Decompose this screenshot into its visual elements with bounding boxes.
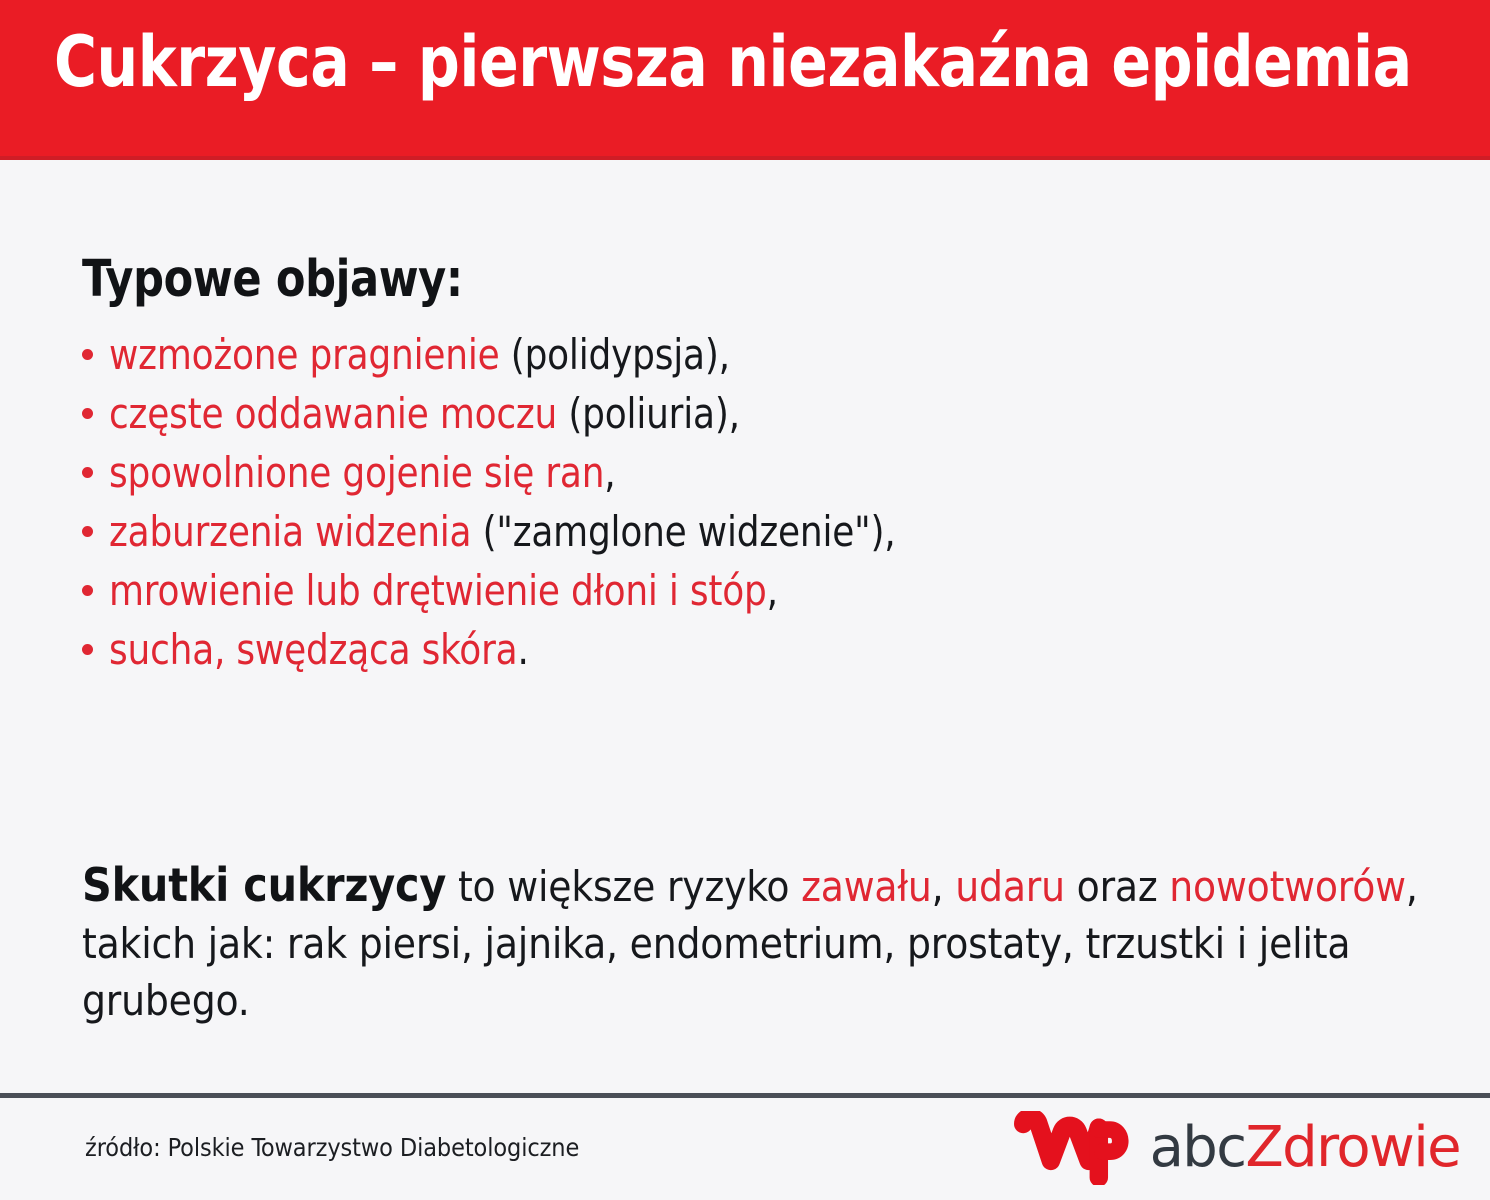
- header-banner: Cukrzyca – pierwsza niezakaźna epidemia: [0, 0, 1490, 160]
- effects-highlight-zawalu: zawału: [801, 862, 932, 911]
- footer-divider: [0, 1093, 1490, 1098]
- symptom-rest: ,: [767, 566, 778, 615]
- bullet-dot-icon: [82, 349, 93, 360]
- symptom-highlight: częste oddawanie moczu: [109, 389, 557, 438]
- effects-highlight-nowotworow: nowotworów: [1169, 862, 1406, 911]
- infographic-poster: Cukrzyca – pierwsza niezakaźna epidemia …: [0, 0, 1490, 1200]
- brand-zdrowie: Zdrowie: [1245, 1115, 1460, 1180]
- list-item: mrowienie lub drętwienie dłoni i stóp,: [82, 561, 1412, 620]
- main-content: Typowe objawy: wzmożone pragnienie (poli…: [0, 160, 1490, 1093]
- wp-logo-icon: [1014, 1111, 1132, 1185]
- symptom-rest: .: [517, 625, 528, 674]
- symptom-highlight: sucha, swędząca skóra: [109, 625, 517, 674]
- symptoms-list: wzmożone pragnienie (polidypsja), częste…: [82, 325, 1412, 679]
- effects-part1: to większe ryzyko: [446, 862, 801, 911]
- effects-lead: Skutki cukrzycy: [82, 858, 446, 912]
- effects-part2: ,: [932, 862, 956, 911]
- bullet-dot-icon: [82, 585, 93, 596]
- footer: źródło: Polskie Towarzystwo Diabetologic…: [0, 1093, 1490, 1200]
- list-item: sucha, swędząca skóra.: [82, 620, 1412, 679]
- effects-highlight-udaru: udaru: [955, 862, 1065, 911]
- bullet-dot-icon: [82, 467, 93, 478]
- effects-part3: oraz: [1065, 862, 1169, 911]
- symptom-rest: (poliuria),: [557, 389, 740, 438]
- source-attribution: źródło: Polskie Towarzystwo Diabetologic…: [85, 1133, 579, 1162]
- symptom-highlight: spowolnione gojenie się ran: [109, 448, 604, 497]
- symptom-rest: ("zamglone widzenie"),: [471, 507, 895, 556]
- bullet-dot-icon: [82, 408, 93, 419]
- list-item: wzmożone pragnienie (polidypsja),: [82, 325, 1412, 384]
- effects-paragraph: Skutki cukrzycy to większe ryzyko zawału…: [82, 857, 1442, 1029]
- bullet-dot-icon: [82, 644, 93, 655]
- list-item: spowolnione gojenie się ran,: [82, 443, 1412, 502]
- symptom-highlight: wzmożone pragnienie: [109, 330, 500, 379]
- brand-abc: abc: [1150, 1115, 1246, 1180]
- symptom-highlight: zaburzenia widzenia: [109, 507, 471, 556]
- symptom-rest: (polidypsja),: [500, 330, 730, 379]
- bullet-dot-icon: [82, 526, 93, 537]
- symptoms-heading: Typowe objawy:: [82, 250, 463, 309]
- list-item: zaburzenia widzenia ("zamglone widzenie"…: [82, 502, 1412, 561]
- symptom-highlight: mrowienie lub drętwienie dłoni i stóp: [109, 566, 767, 615]
- list-item: częste oddawanie moczu (poliuria),: [82, 384, 1412, 443]
- brand-logo: abcZdrowie: [1014, 1107, 1460, 1189]
- brand-wordmark: abcZdrowie: [1150, 1120, 1460, 1176]
- symptom-rest: ,: [604, 448, 615, 497]
- page-title: Cukrzyca – pierwsza niezakaźna epidemia: [54, 26, 1412, 100]
